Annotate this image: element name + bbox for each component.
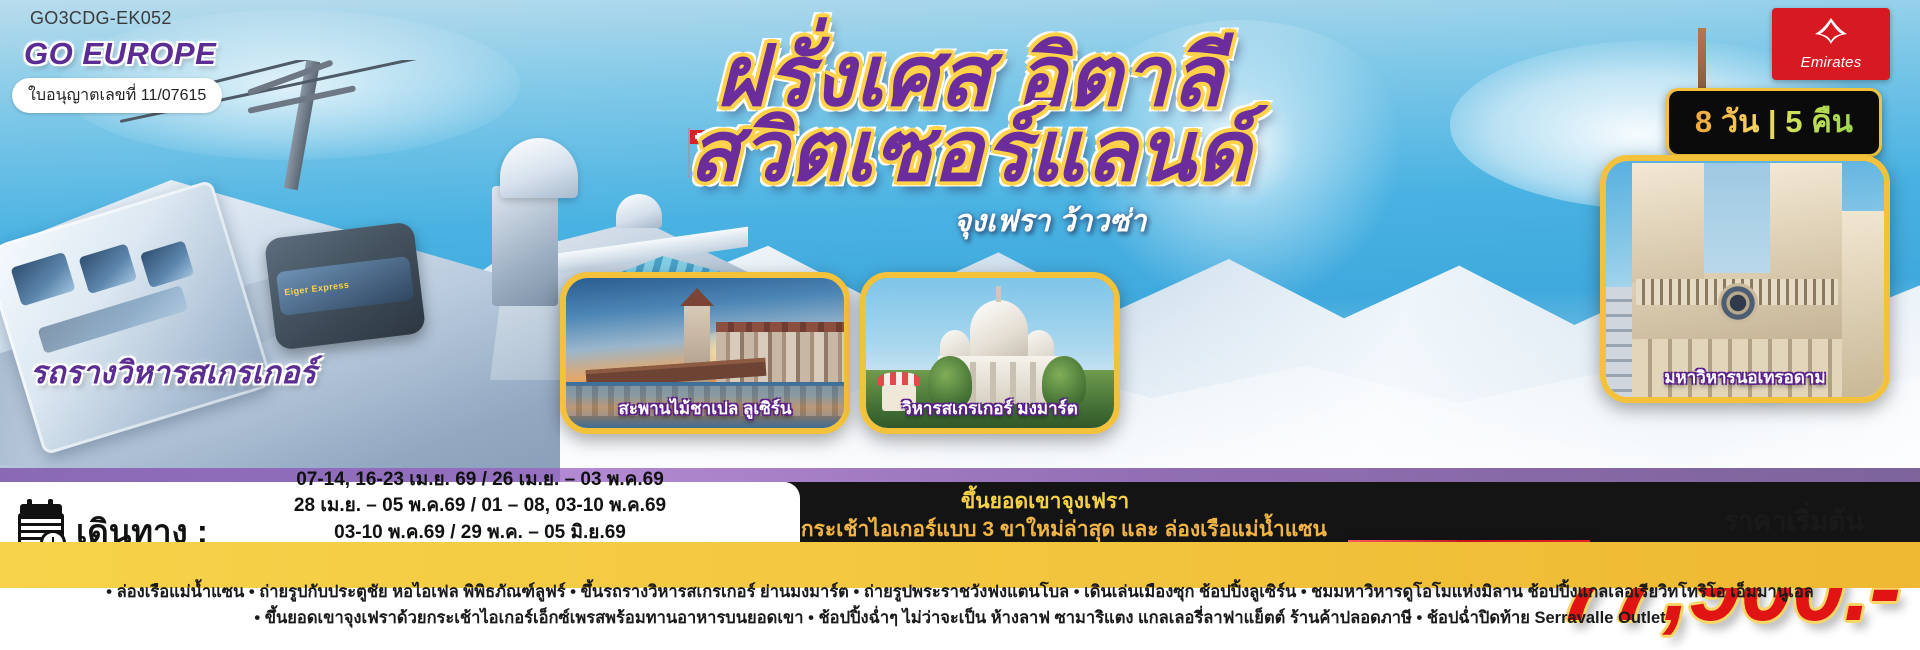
caption-cogwheel-train: รถรางวิหารสเกรเกอร์ — [30, 347, 316, 397]
itinerary-bullets: • ล่องเรือแม่น้ำแซน • ถ่ายรูปกับประตูชัย… — [0, 580, 1920, 646]
itinerary-bullets-row-1: • ล่องเรือแม่น้ำแซน • ถ่ายรูปกับประตูชัย… — [0, 580, 1920, 606]
airline-name: Emirates — [1772, 54, 1890, 71]
title-subtitle: จุงเฟรา ว้าวซ่า — [880, 198, 1220, 245]
itinerary-bullets-row-2: • ขึ้นยอดเขาจุงเฟราด้วยกระเช้าไอเกอร์เอ็… — [0, 606, 1920, 632]
travel-promo-banner: Eiger Express GO3CDG-EK052 GO EUROPE ใบอ… — [0, 0, 1920, 650]
caption-sacre-coeur: วิหารสเกรเกอร์ มงมาร์ต — [866, 395, 1114, 422]
emirates-logo-icon — [1809, 16, 1853, 46]
duration-badge: 8 วัน | 5 คืน — [1666, 88, 1882, 157]
gondola-cabin-icon: Eiger Express — [264, 221, 427, 350]
product-code: GO3CDG-EK052 — [30, 8, 172, 29]
caption-notre-dame: มหาวิหารนอเทรอดาม — [1606, 364, 1884, 391]
departure-date-line: 28 เม.ย. – 05 พ.ค.69 / 01 – 08, 03-10 พ.… — [230, 493, 730, 519]
photo-card-sacre-coeur: วิหารสเกรเกอร์ มงมาร์ต — [860, 272, 1120, 434]
brand-logo-text: GO EUROPE — [24, 36, 216, 72]
page-title: ฝรั่งเศส อิตาลี สวิตเซอร์แลนด์ — [640, 36, 1300, 191]
duration-badge-label: 8 วัน | 5 คืน — [1695, 104, 1853, 139]
photo-card-notre-dame: มหาวิหารนอเทรอดาม — [1600, 155, 1890, 403]
licence-number: ใบอนุญาตเลขที่ 11/07615 — [12, 78, 222, 113]
departure-date-line: 07-14, 16-23 เม.ย. 69 / 26 เม.ย. – 03 พ.… — [230, 467, 730, 493]
title-line-2: สวิตเซอร์แลนด์ — [640, 111, 1300, 192]
caption-lucerne: สะพานไม้ชาเปล ลูเซิร์น — [566, 395, 844, 422]
airline-logo: Emirates — [1772, 8, 1890, 80]
photo-card-lucerne: สะพานไม้ชาเปล ลูเซิร์น — [560, 272, 850, 434]
